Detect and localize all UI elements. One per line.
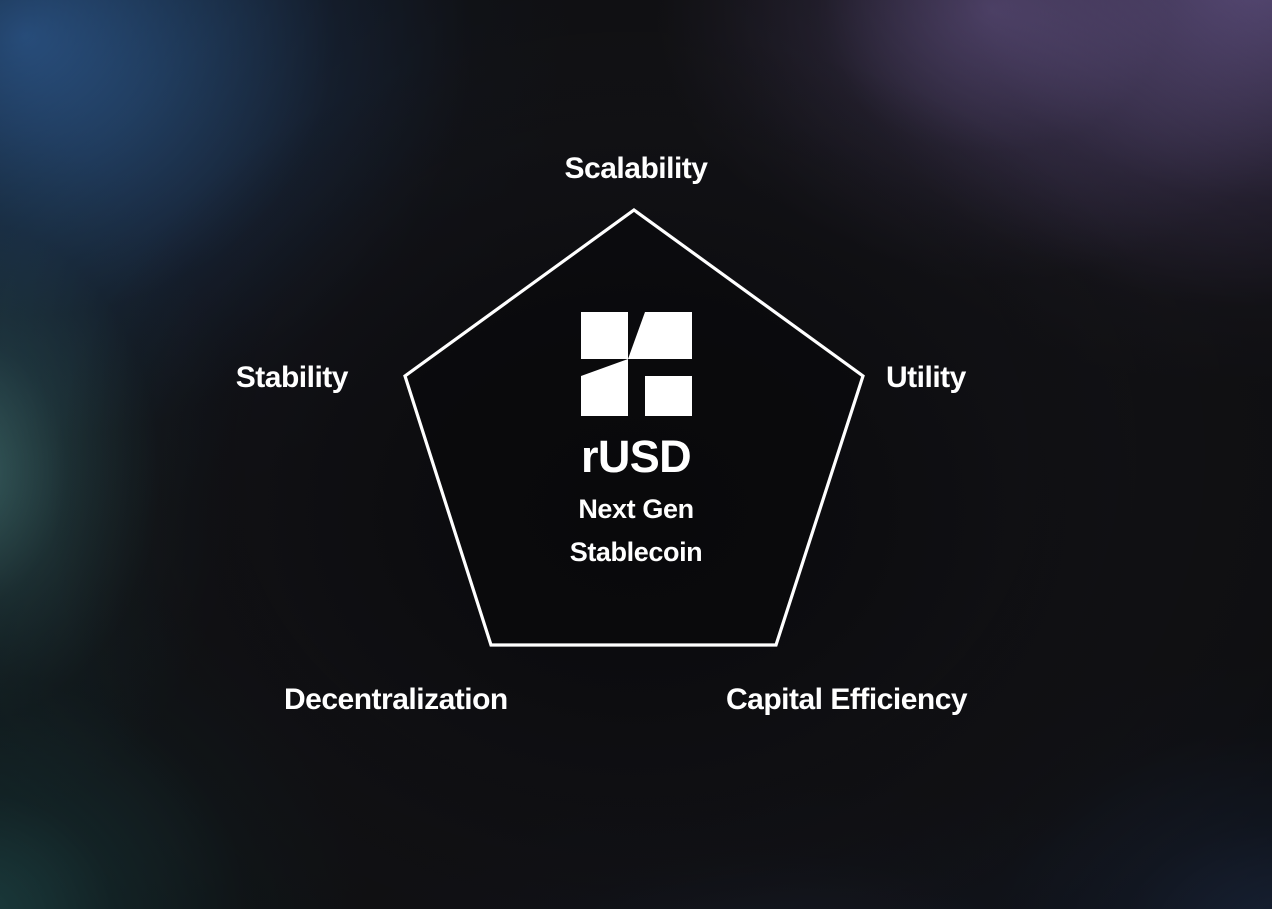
pentagon-diagram-svg <box>0 0 1272 909</box>
vertex-label-decentralization: Decentralization <box>284 685 508 715</box>
vertex-label-capital-efficiency: Capital Efficiency <box>726 685 967 715</box>
vertex-label-scalability: Scalability <box>565 154 708 184</box>
pentagon-diagram-stage: rUSD Next Gen Stablecoin Scalability Uti… <box>0 0 1272 909</box>
pentagon-outline-shape <box>405 210 863 645</box>
vertex-label-stability: Stability <box>236 363 348 393</box>
vertex-label-utility: Utility <box>886 363 966 393</box>
